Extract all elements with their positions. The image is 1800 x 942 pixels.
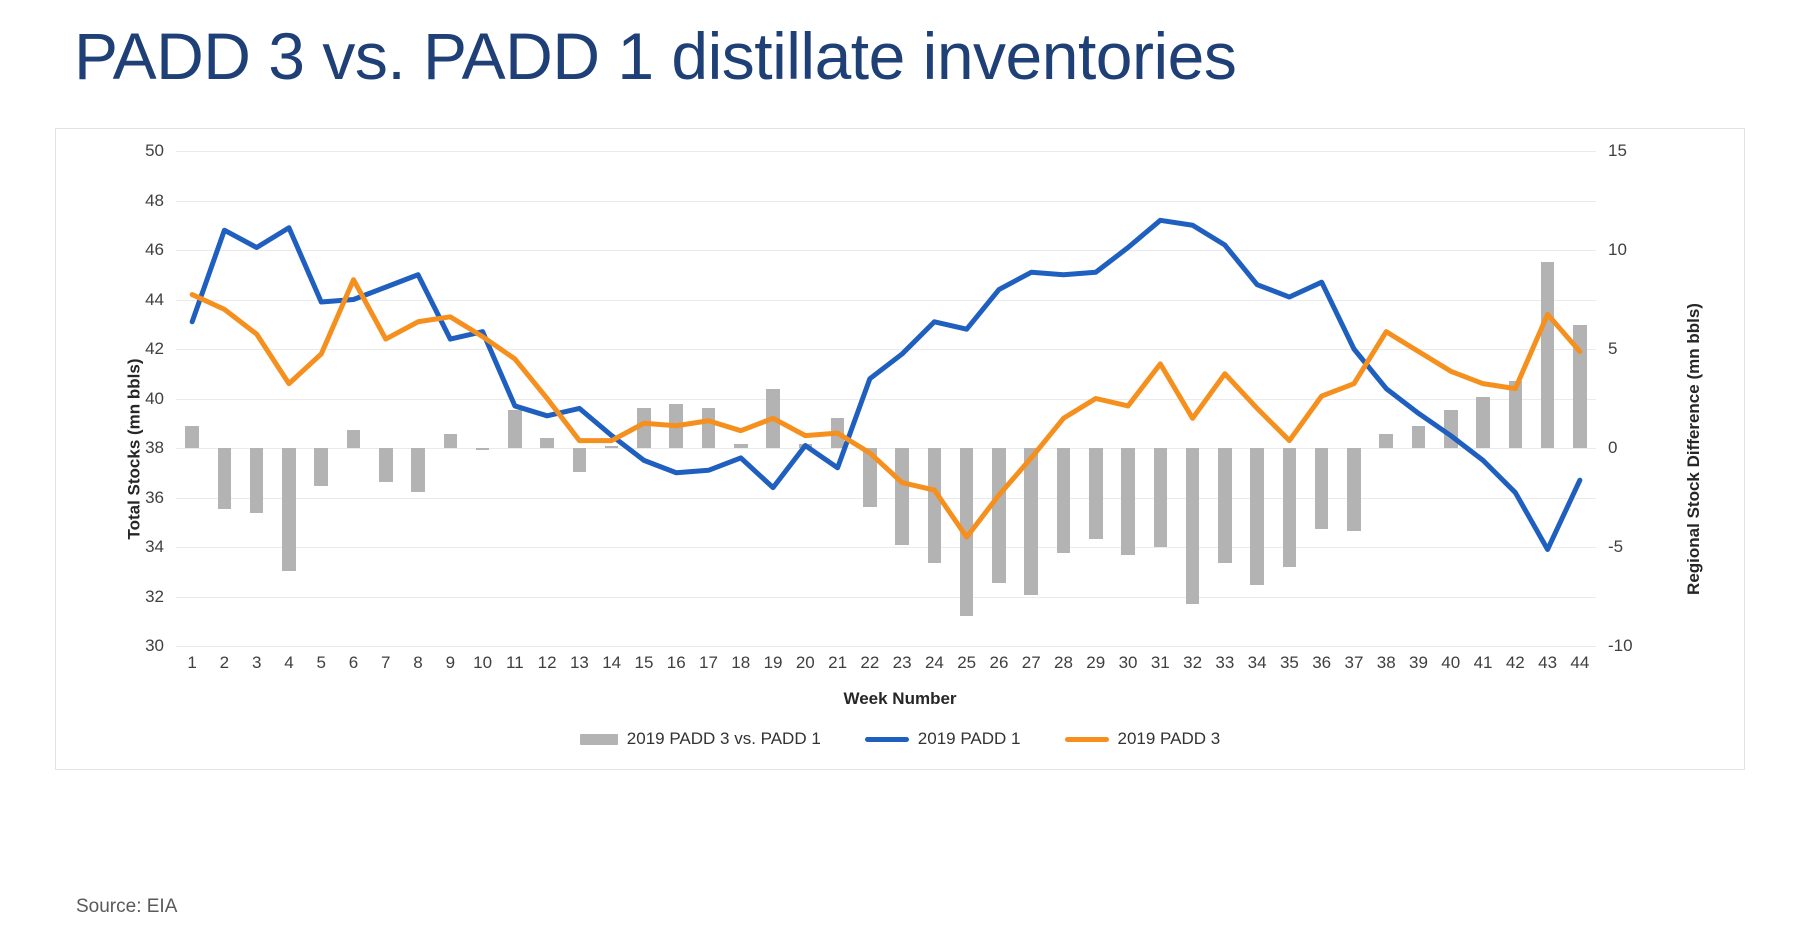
x-axis-tick: 28: [1054, 653, 1073, 673]
y-axis-right-tick: -5: [1608, 537, 1668, 557]
plot-area: 3032343638404244464850 -10-5051015 12345…: [176, 151, 1596, 646]
x-axis-tick: 41: [1474, 653, 1493, 673]
x-axis-tick: 42: [1506, 653, 1525, 673]
x-axis-tick: 40: [1441, 653, 1460, 673]
y-axis-right-tick: 10: [1608, 240, 1668, 260]
x-axis-tick: 35: [1280, 653, 1299, 673]
page-title: PADD 3 vs. PADD 1 distillate inventories: [74, 18, 1236, 94]
x-axis-tick: 11: [506, 653, 524, 673]
y-axis-right-tick: 0: [1608, 438, 1668, 458]
x-axis-tick: 43: [1538, 653, 1557, 673]
y-axis-left-tick: 50: [104, 141, 164, 161]
x-axis-tick: 34: [1248, 653, 1267, 673]
x-axis-tick: 5: [316, 653, 325, 673]
x-axis-tick: 6: [349, 653, 358, 673]
y-axis-left-tick: 34: [104, 537, 164, 557]
legend-item[interactable]: 2019 PADD 3: [1065, 729, 1221, 749]
y-axis-left-tick: 32: [104, 587, 164, 607]
x-axis-tick: 22: [860, 653, 879, 673]
y-axis-left-tick: 44: [104, 290, 164, 310]
legend-swatch-line-icon: [1065, 737, 1109, 742]
y-axis-right-title: Regional Stock Difference (mn bbls): [1684, 303, 1704, 595]
x-axis-tick: 23: [893, 653, 912, 673]
x-axis-tick: 31: [1151, 653, 1170, 673]
legend-swatch-line-icon: [865, 737, 909, 742]
x-axis-tick: 1: [187, 653, 196, 673]
x-axis-tick: 24: [925, 653, 944, 673]
y-axis-left-tick: 40: [104, 389, 164, 409]
y-axis-left-tick: 46: [104, 240, 164, 260]
y-axis-left-tick: 48: [104, 191, 164, 211]
x-axis-tick: 30: [1119, 653, 1138, 673]
y-axis-right-tick: 15: [1608, 141, 1668, 161]
gridline: [176, 646, 1596, 647]
x-axis-tick: 13: [570, 653, 589, 673]
x-axis-tick: 37: [1344, 653, 1363, 673]
x-axis-tick: 18: [731, 653, 750, 673]
x-axis-tick: 36: [1312, 653, 1331, 673]
legend-item[interactable]: 2019 PADD 3 vs. PADD 1: [580, 729, 821, 749]
x-axis-tick: 33: [1215, 653, 1234, 673]
y-axis-left-tick: 38: [104, 438, 164, 458]
y-axis-right-tick: -10: [1608, 636, 1668, 656]
x-axis-tick: 26: [989, 653, 1008, 673]
y-axis-right-tick: 5: [1608, 339, 1668, 359]
x-axis-tick: 8: [413, 653, 422, 673]
legend-label: 2019 PADD 3 vs. PADD 1: [627, 729, 821, 749]
legend-item[interactable]: 2019 PADD 1: [865, 729, 1021, 749]
chart-page: PADD 3 vs. PADD 1 distillate inventories…: [0, 0, 1800, 942]
legend-label: 2019 PADD 3: [1118, 729, 1221, 749]
x-axis-tick: 20: [796, 653, 815, 673]
y-axis-left-tick: 42: [104, 339, 164, 359]
legend-swatch-bar-icon: [580, 734, 618, 745]
source-note: Source: EIA: [76, 896, 177, 918]
x-axis-tick: 4: [284, 653, 293, 673]
x-axis-title: Week Number: [56, 689, 1744, 709]
x-axis-tick: 39: [1409, 653, 1428, 673]
line-padd3: [192, 280, 1580, 537]
x-axis-tick: 9: [446, 653, 455, 673]
x-axis-tick: 38: [1377, 653, 1396, 673]
x-axis-tick: 25: [957, 653, 976, 673]
chart-frame: Total Stocks (mn bbls) Regional Stock Di…: [55, 128, 1745, 770]
line-series-layer: [176, 151, 1596, 646]
x-axis-tick: 16: [667, 653, 686, 673]
x-axis-tick: 27: [1022, 653, 1041, 673]
chart-legend: 2019 PADD 3 vs. PADD 12019 PADD 12019 PA…: [56, 729, 1744, 749]
y-axis-left-tick: 36: [104, 488, 164, 508]
x-axis-tick: 29: [1086, 653, 1105, 673]
x-axis-tick: 32: [1183, 653, 1202, 673]
x-axis-tick: 17: [699, 653, 718, 673]
y-axis-left-tick: 30: [104, 636, 164, 656]
x-axis-tick: 7: [381, 653, 390, 673]
line-padd1: [192, 220, 1580, 549]
x-axis-tick: 10: [473, 653, 492, 673]
x-axis-tick: 12: [538, 653, 557, 673]
legend-label: 2019 PADD 1: [918, 729, 1021, 749]
x-axis-tick: 3: [252, 653, 261, 673]
x-axis-tick: 21: [828, 653, 847, 673]
x-axis-tick: 2: [220, 653, 229, 673]
x-axis-tick: 19: [764, 653, 783, 673]
x-axis-tick: 14: [602, 653, 621, 673]
x-axis-tick: 15: [634, 653, 653, 673]
x-axis-tick: 44: [1570, 653, 1589, 673]
